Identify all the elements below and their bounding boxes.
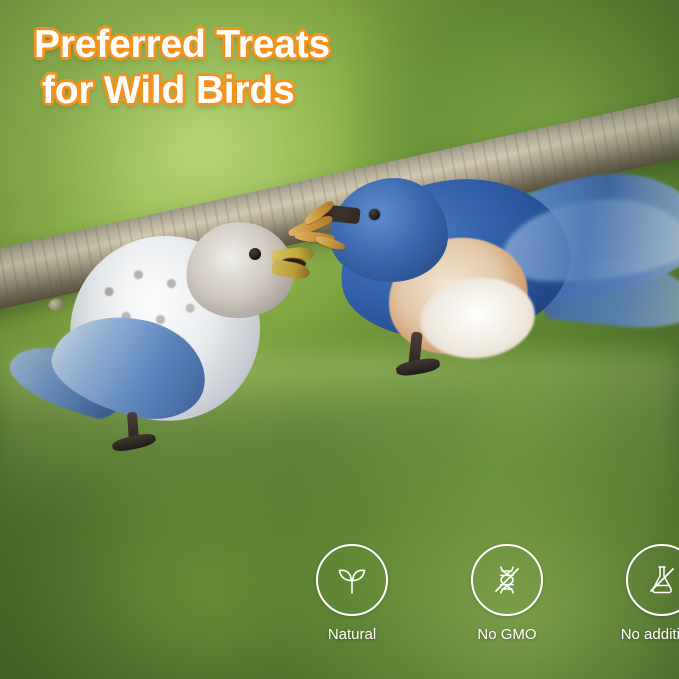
- badge-ring: [626, 544, 679, 616]
- product-poster-image: Preferred Treats for Wild Birds Natural: [0, 0, 679, 679]
- flask-icon: [644, 562, 679, 598]
- headline-line-2: for Wild Birds: [34, 68, 330, 114]
- badge-label: No GMO: [477, 626, 536, 643]
- headline-line-1: Preferred Treats: [34, 22, 330, 68]
- badge-ring: [471, 544, 543, 616]
- dna-icon: [489, 562, 525, 598]
- leaf-icon: [334, 562, 370, 598]
- badge-natural: Natural: [296, 544, 408, 643]
- page-title: Preferred Treats for Wild Birds: [34, 22, 330, 114]
- badge-ring: [316, 544, 388, 616]
- feature-badges: Natural No GMO: [296, 544, 679, 643]
- badge-label: No additives: [621, 626, 679, 643]
- badge-no-additives: No additives: [606, 544, 679, 643]
- badge-label: Natural: [328, 626, 376, 643]
- badge-no-gmo: No GMO: [451, 544, 563, 643]
